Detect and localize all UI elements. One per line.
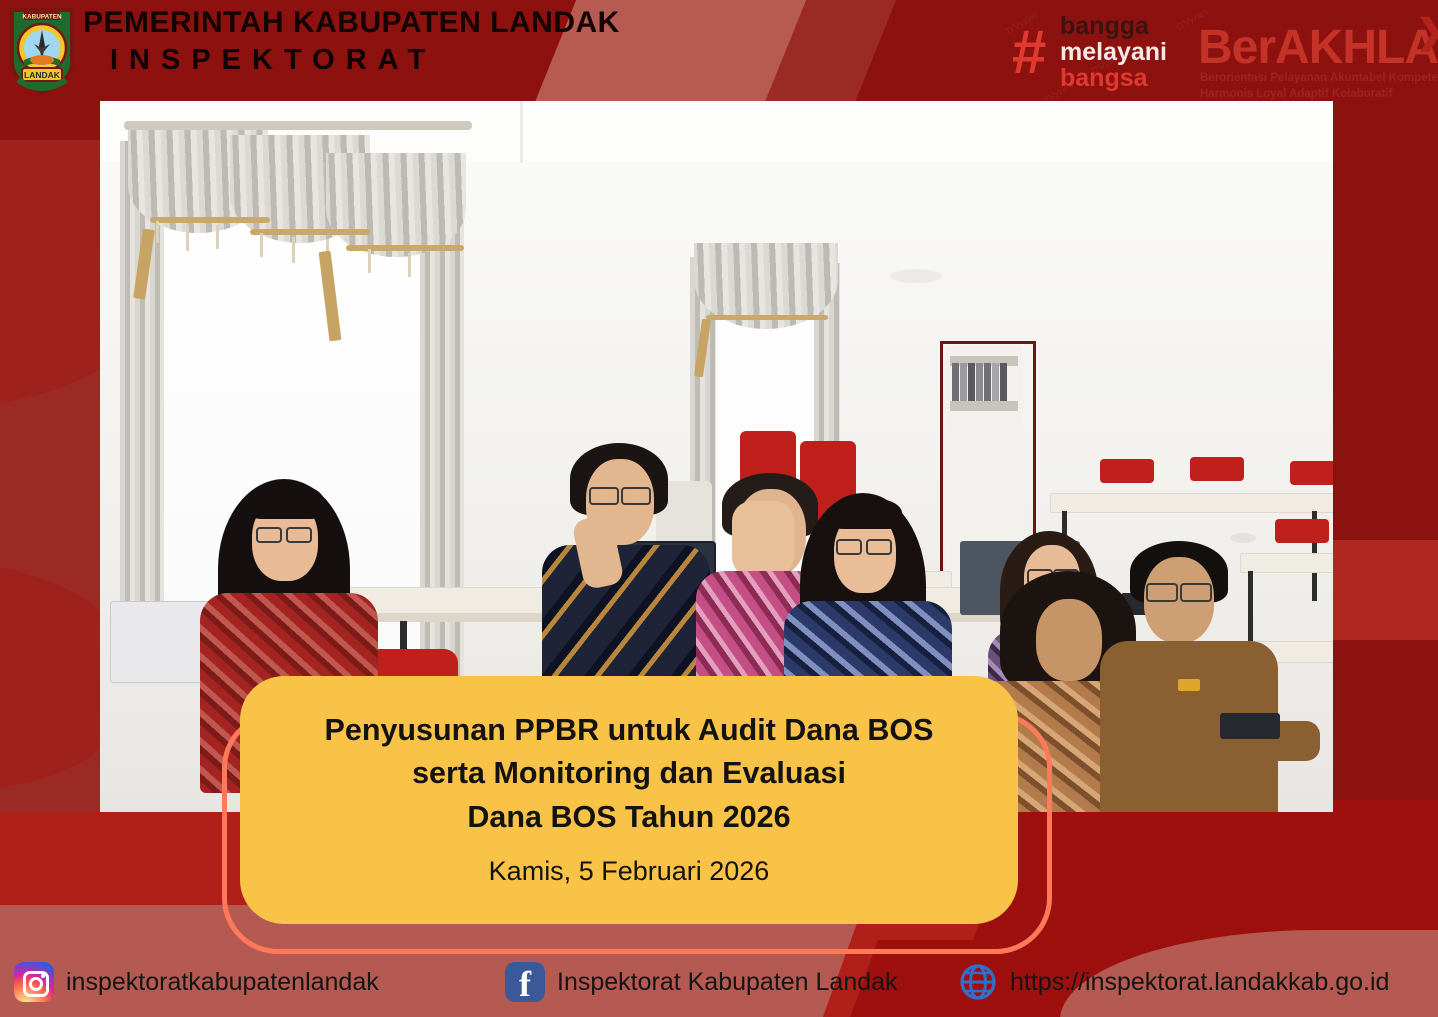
- poster-footer: inspektoratkabupatenlandak f Inspektorat…: [0, 950, 1438, 1017]
- instagram-contact[interactable]: inspektoratkabupatenlandak: [14, 962, 379, 1002]
- eyeglasses: [621, 487, 651, 505]
- facebook-icon-glyph: f: [519, 966, 531, 1002]
- curtain-trim: [706, 315, 828, 320]
- hashtag-icon: #: [1012, 22, 1046, 84]
- curtain-swag: [326, 153, 466, 257]
- curtain-tassel: [368, 249, 371, 273]
- title-line-2: serta Monitoring dan Evaluasi: [412, 752, 846, 795]
- facebook-contact[interactable]: f Inspektorat Kabupaten Landak: [505, 962, 898, 1002]
- binder: [952, 363, 959, 401]
- bangga-line-2: melayani: [1060, 40, 1167, 65]
- bangga-line-3: bangsa: [1060, 66, 1148, 91]
- curtain-trim: [150, 217, 270, 223]
- fringe: [248, 483, 324, 519]
- poster-canvas: KABUPATEN LANDAK PEMERINTAH KABUPATEN LA…: [0, 0, 1438, 1017]
- kabupaten-landak-emblem: KABUPATEN LANDAK: [8, 4, 76, 96]
- cabinet-shelf: [950, 401, 1018, 411]
- institution-name: INSPEKTORAT: [110, 44, 436, 77]
- eyeglasses: [256, 527, 282, 543]
- eyeglasses: [286, 527, 312, 543]
- mobile-phone: [1220, 713, 1280, 739]
- curtain-tassel: [186, 225, 189, 251]
- curtain-tassel: [216, 225, 219, 249]
- fringe: [830, 497, 902, 529]
- globe-icon[interactable]: [958, 962, 998, 1002]
- facebook-icon[interactable]: f: [505, 962, 545, 1002]
- desk-far-right: [1240, 553, 1333, 573]
- binder: [1000, 363, 1007, 401]
- ceiling-light-small: [1230, 533, 1256, 543]
- eyeglasses: [866, 539, 892, 555]
- instagram-icon-lens: [29, 977, 43, 991]
- berakhlak-values-line-1: Berorientasi Pelayanan Akuntabel Kompete…: [1200, 72, 1438, 84]
- uniform-badge: [1178, 679, 1200, 691]
- curtain-tassel: [260, 233, 263, 257]
- curtain-tassel: [292, 237, 295, 263]
- poster-header: KABUPATEN LANDAK PEMERINTAH KABUPATEN LA…: [0, 0, 1438, 101]
- eyeglasses: [1146, 583, 1178, 602]
- emblem-bottom-text: LANDAK: [24, 70, 61, 80]
- curtain-rod: [124, 121, 472, 130]
- curtain-trim: [346, 245, 464, 251]
- curtain-tassel: [156, 221, 159, 243]
- curtain-tassel: [408, 253, 411, 277]
- chair-back: [1275, 519, 1329, 543]
- facebook-page-name: Inspektorat Kabupaten Landak: [557, 968, 898, 997]
- instagram-icon-dot: [41, 974, 45, 978]
- chair-back: [1190, 457, 1244, 481]
- desk-back-right: [1050, 493, 1333, 513]
- binder: [984, 363, 991, 401]
- chair-back: [1290, 461, 1333, 485]
- instagram-handle: inspektoratkabupatenlandak: [66, 968, 379, 997]
- ceiling-light: [890, 269, 942, 283]
- bg-band-right-light: [1325, 540, 1438, 640]
- title-card: Penyusunan PPBR untuk Audit Dana BOS ser…: [240, 676, 1018, 924]
- binder: [960, 363, 967, 401]
- emblem-top-text: KABUPATEN: [22, 14, 62, 21]
- instagram-icon[interactable]: [14, 962, 54, 1002]
- chevron-right-icon: ❯: [1416, 12, 1438, 52]
- face: [1036, 599, 1102, 681]
- eyeglasses: [1180, 583, 1212, 602]
- binder: [976, 363, 983, 401]
- bangga-line-1: bangga: [1060, 14, 1149, 39]
- website-url: https://inspektorat.landakkab.go.id: [1010, 968, 1389, 997]
- binder: [968, 363, 975, 401]
- website-contact[interactable]: https://inspektorat.landakkab.go.id: [958, 962, 1389, 1002]
- title-line-1: Penyusunan PPBR untuk Audit Dana BOS: [325, 709, 934, 752]
- binder: [992, 363, 999, 401]
- title-line-3: Dana BOS Tahun 2026: [467, 796, 790, 839]
- bangga-melayani-bangsa-logo: # bangga melayani bangsa: [1012, 8, 1182, 96]
- chair-back: [1100, 459, 1154, 483]
- eyeglasses: [589, 487, 619, 505]
- ceiling-seam: [520, 101, 523, 163]
- berakhlak-wordmark: BerAKHLAK: [1198, 24, 1438, 72]
- government-title: PEMERINTAH KABUPATEN LANDAK: [83, 6, 620, 40]
- berakhlak-values-line-2: Harmonis Loyal Adaptif Kolaboratif: [1200, 88, 1393, 100]
- curtain-trim: [250, 229, 370, 235]
- eyeglasses: [836, 539, 862, 555]
- berakhlak-logo: BerAKHLAK ❯ Berorientasi Pelayanan Akunt…: [1198, 10, 1438, 98]
- event-date: Kamis, 5 Februari 2026: [489, 853, 770, 891]
- hand-over-face: [732, 501, 794, 577]
